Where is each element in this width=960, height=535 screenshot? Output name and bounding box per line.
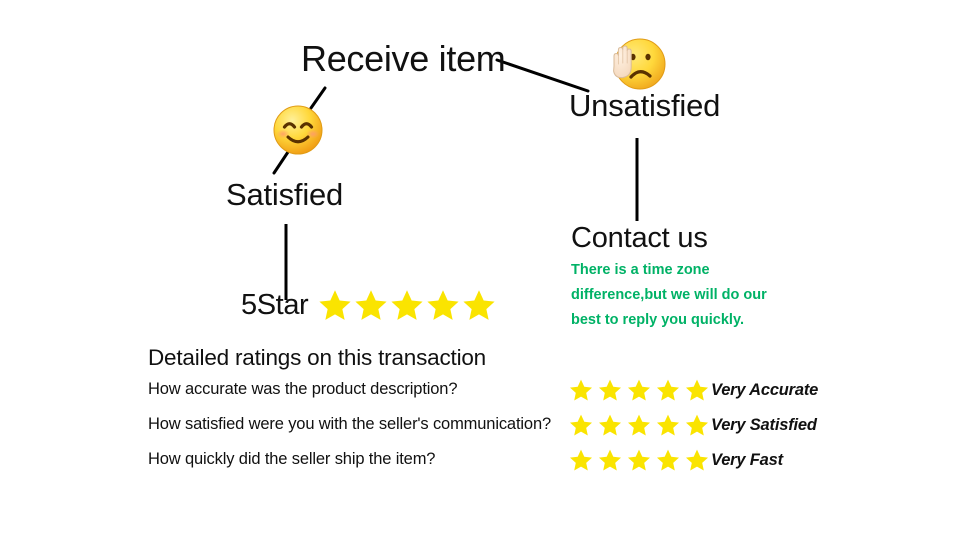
fivestar-rating: 5Star	[241, 288, 496, 322]
star-icon	[656, 448, 680, 472]
rating-star-group	[569, 378, 709, 402]
star-icon	[569, 448, 593, 472]
star-icon	[354, 288, 388, 322]
rating-question: How accurate was the product description…	[148, 380, 457, 399]
rating-row: How quickly did the seller ship the item…	[148, 448, 848, 483]
fivestar-star-group	[318, 288, 496, 322]
frowning-face-with-raised-hand-icon	[603, 36, 667, 92]
rating-verdict: Very Fast	[711, 451, 783, 470]
rating-question: How satisfied were you with the seller's…	[148, 415, 551, 434]
contact-us-note: There is a time zone difference,but we w…	[571, 258, 786, 333]
flow-branch-negative-label: Unsatisfied	[569, 88, 720, 124]
connector-root-to-unsatisfied	[497, 60, 588, 91]
rating-question: How quickly did the seller ship the item…	[148, 450, 435, 469]
star-icon	[390, 288, 424, 322]
star-icon	[318, 288, 352, 322]
star-icon	[685, 448, 709, 472]
star-icon	[656, 378, 680, 402]
infographic-canvas: Receive item	[0, 0, 960, 535]
star-icon	[598, 413, 622, 437]
rating-row: How accurate was the product description…	[148, 378, 848, 413]
flow-branch-positive-label: Satisfied	[226, 177, 343, 213]
star-icon	[685, 413, 709, 437]
rating-star-group	[569, 448, 709, 472]
rating-verdict: Very Satisfied	[711, 416, 817, 435]
star-icon	[656, 413, 680, 437]
flow-root-label: Receive item	[301, 38, 505, 80]
star-icon	[685, 378, 709, 402]
star-icon	[627, 448, 651, 472]
star-icon	[569, 413, 593, 437]
fivestar-label: 5Star	[241, 289, 308, 322]
rating-verdict: Very Accurate	[711, 381, 818, 400]
star-icon	[462, 288, 496, 322]
detailed-ratings-list: How accurate was the product description…	[148, 378, 848, 483]
star-icon	[569, 378, 593, 402]
star-icon	[627, 413, 651, 437]
star-icon	[627, 378, 651, 402]
contact-us-heading: Contact us	[571, 222, 708, 255]
rating-star-group	[569, 413, 709, 437]
star-icon	[598, 448, 622, 472]
star-icon	[426, 288, 460, 322]
smiling-face-with-smiling-eyes-icon	[272, 104, 324, 156]
rating-row: How satisfied were you with the seller's…	[148, 413, 848, 448]
detailed-ratings-heading: Detailed ratings on this transaction	[148, 345, 486, 371]
star-icon	[598, 378, 622, 402]
